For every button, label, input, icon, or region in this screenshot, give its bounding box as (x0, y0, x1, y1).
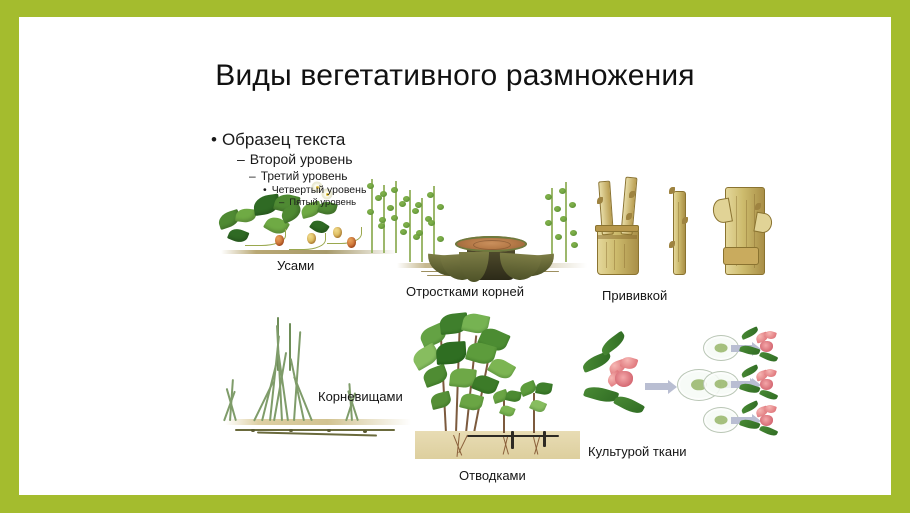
pinning-peg (543, 431, 546, 447)
berry (347, 237, 356, 248)
bullet-level-5: – (279, 197, 284, 209)
berry (307, 233, 316, 244)
tissue-culture-icon (579, 327, 779, 439)
placeholder-level-3: –Третий уровень (207, 169, 537, 184)
rhizome-grass-icon (217, 317, 417, 439)
placeholder-level-3-text: Третий уровень (261, 169, 348, 183)
page-title: Виды вегетативного размножения (19, 59, 891, 93)
bullet-level-3: – (249, 169, 256, 184)
placeholder-text-block[interactable]: •Образец текста –Второй уровень –Третий … (207, 129, 537, 210)
rhizome-node (363, 430, 367, 433)
rhizome-node (251, 429, 255, 432)
graft-scion-stick (673, 191, 686, 275)
process-arrow (645, 383, 669, 390)
placeholder-level-5-text: Пятый уровень (289, 197, 356, 208)
regenerated-plant (739, 401, 779, 435)
pinning-peg (511, 431, 514, 449)
daughter-plantlet-stem (503, 399, 505, 433)
graft-branches-icon (585, 173, 775, 283)
layering-shrub-icon (415, 309, 580, 459)
bark-flap (753, 212, 773, 235)
berry (333, 227, 342, 238)
placeholder-level-2: –Второй уровень (207, 151, 537, 169)
label-usami: Усами (277, 258, 314, 273)
regenerated-plant (739, 365, 779, 399)
slide-frame: Виды вегетативного размножения •Образец … (0, 0, 910, 513)
bark-flap (711, 198, 733, 225)
rhizome (257, 431, 377, 437)
placeholder-level-4: •Четвертый уровень (207, 184, 537, 197)
stump-cut-surface (455, 236, 527, 252)
regenerated-plant (739, 327, 779, 361)
label-root-shoots: Отростками корней (406, 284, 524, 299)
placeholder-level-1-text: Образец текста (222, 130, 345, 149)
label-grafting: Прививкой (602, 288, 667, 303)
slide-canvas: Виды вегетативного размножения •Образец … (19, 17, 891, 495)
placeholder-level-5: –Пятый уровень (207, 197, 537, 209)
graft-binding (723, 247, 759, 265)
rhizome-node (289, 429, 293, 432)
label-tissue-culture: Культурой ткани (588, 444, 687, 459)
label-rhizome: Корневищами (318, 389, 403, 404)
bullet-level-1: • (211, 129, 217, 151)
graft-bud (682, 217, 688, 224)
placeholder-level-1: •Образец текста (207, 129, 537, 151)
bullet-level-4: • (263, 184, 267, 197)
graft-binding (595, 225, 639, 232)
placeholder-level-2-text: Второй уровень (250, 151, 353, 167)
berry (275, 235, 284, 246)
source-plant (583, 341, 647, 417)
rhizome-node (327, 429, 331, 432)
label-layering: Отводками (459, 468, 526, 483)
bullet-level-2: – (237, 151, 245, 169)
placeholder-level-4-text: Четвертый уровень (272, 184, 367, 196)
graft-rootstock (597, 229, 639, 275)
